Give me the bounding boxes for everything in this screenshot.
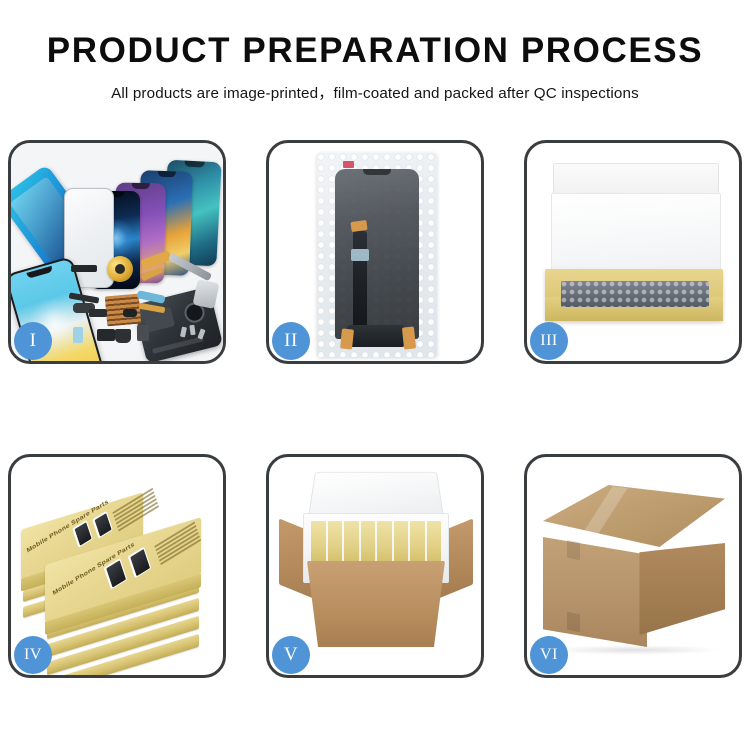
orange-tape-2 <box>340 328 354 349</box>
page-subtitle: All products are image-printed，film-coat… <box>0 81 750 103</box>
lcd-flex-cable <box>353 231 367 335</box>
process-step-3: III <box>524 140 742 364</box>
orange-tape-3 <box>402 326 416 349</box>
step-badge-5: V <box>272 636 310 674</box>
open-carton <box>281 471 471 655</box>
carton-top-face <box>543 485 725 547</box>
repair-tool-icon <box>193 279 220 309</box>
mailer-box <box>545 159 723 331</box>
step-badge-6: VI <box>530 636 568 674</box>
process-step-2: II <box>266 140 484 364</box>
battery-part <box>137 325 149 341</box>
process-step-4: Mobile Phone Spare Parts Mobile Phone Sp… <box>8 454 226 678</box>
carton-front-face <box>543 537 647 647</box>
earpiece-part <box>71 265 97 272</box>
process-step-1: I <box>8 140 226 364</box>
process-grid: I II <box>8 140 742 678</box>
header: PRODUCT PREPARATION PROCESS All products… <box>0 33 750 103</box>
wrapped-lcd <box>335 169 419 339</box>
process-step-5: V <box>266 454 484 678</box>
process-step-6: VI <box>524 454 742 678</box>
step-badge-3: III <box>530 322 568 360</box>
carton-seam-bottom <box>567 612 580 633</box>
bubble-wrapped-contents <box>561 281 709 307</box>
carton-side-face <box>639 543 725 635</box>
speaker-part <box>115 329 131 343</box>
chip-part <box>97 329 115 341</box>
step-badge-1: I <box>14 322 52 360</box>
step-badge-4: IV <box>14 636 52 674</box>
sealed-carton <box>541 485 727 653</box>
lcd-connector <box>347 325 405 347</box>
carton-body <box>307 561 445 647</box>
gold-coil-part <box>107 256 133 282</box>
page-title: PRODUCT PREPARATION PROCESS <box>0 33 750 70</box>
carton-shadow <box>547 645 721 655</box>
carton-seam-top <box>567 540 580 561</box>
lens-part <box>123 309 137 317</box>
charging-port-part <box>73 327 83 343</box>
sim-tray-part <box>89 309 107 317</box>
red-label-sticker <box>343 161 354 168</box>
retail-box-stack: Mobile Phone Spare Parts Mobile Phone Sp… <box>19 469 217 659</box>
step-badge-2: II <box>272 322 310 360</box>
lcd-driver-ic <box>351 249 369 261</box>
bubble-wrap-bag <box>317 153 437 357</box>
page-root: PRODUCT PREPARATION PROCESS All products… <box>0 0 750 750</box>
screws-group <box>181 325 207 343</box>
